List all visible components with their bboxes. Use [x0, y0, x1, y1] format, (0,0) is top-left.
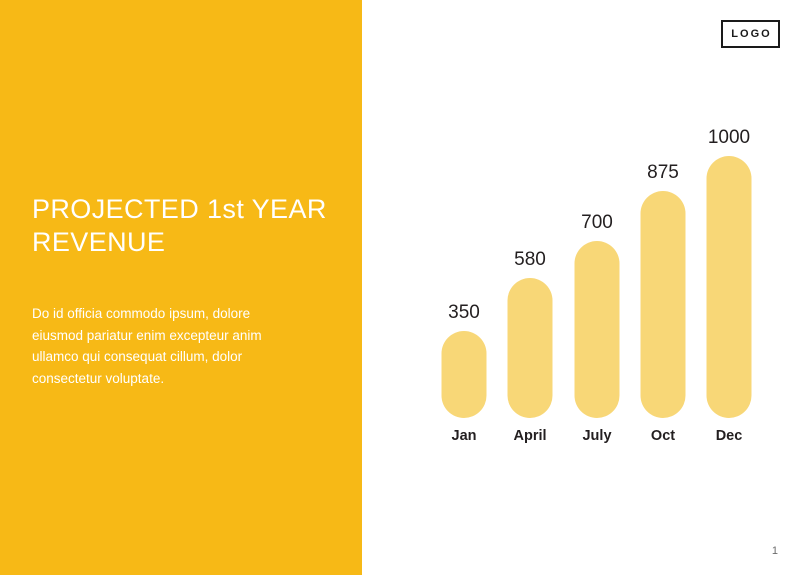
bar-column-3: 875 Oct: [630, 110, 696, 450]
slide-canvas: PROJECTED 1st YEAR REVENUE Do id officia…: [0, 0, 812, 575]
bar-label-0: Jan: [452, 428, 477, 444]
panel-body-text: Do id officia commodo ipsum, dolore eius…: [32, 303, 294, 389]
bar-column-1: 580 April: [497, 110, 563, 450]
page-number: 1: [772, 545, 778, 557]
bar-column-0: 350 Jan: [431, 110, 497, 450]
bar-label-1: April: [513, 428, 546, 444]
left-color-panel: PROJECTED 1st YEAR REVENUE Do id officia…: [0, 0, 362, 575]
bar-label-4: Dec: [716, 428, 743, 444]
bar-value-2: 700: [581, 212, 613, 234]
bar-value-0: 350: [448, 302, 480, 324]
bar-label-3: Oct: [651, 428, 675, 444]
bar-chart: 350 Jan 580 April 700 July 875 Oct 1000 …: [420, 110, 790, 450]
page-title: PROJECTED 1st YEAR REVENUE: [32, 193, 332, 259]
bar-label-2: July: [582, 428, 611, 444]
bar-value-4: 1000: [708, 127, 750, 149]
logo-text: LOGO: [729, 28, 771, 40]
bar-column-2: 700 July: [564, 110, 630, 450]
bar-value-1: 580: [514, 249, 546, 271]
bar-1: [508, 278, 553, 418]
logo-box: LOGO: [721, 20, 780, 48]
bar-0: [442, 331, 487, 418]
bar-4: [707, 156, 752, 418]
bar-2: [575, 241, 620, 418]
bar-3: [641, 191, 686, 418]
bar-value-3: 875: [647, 162, 679, 184]
bar-column-4: 1000 Dec: [696, 110, 762, 450]
